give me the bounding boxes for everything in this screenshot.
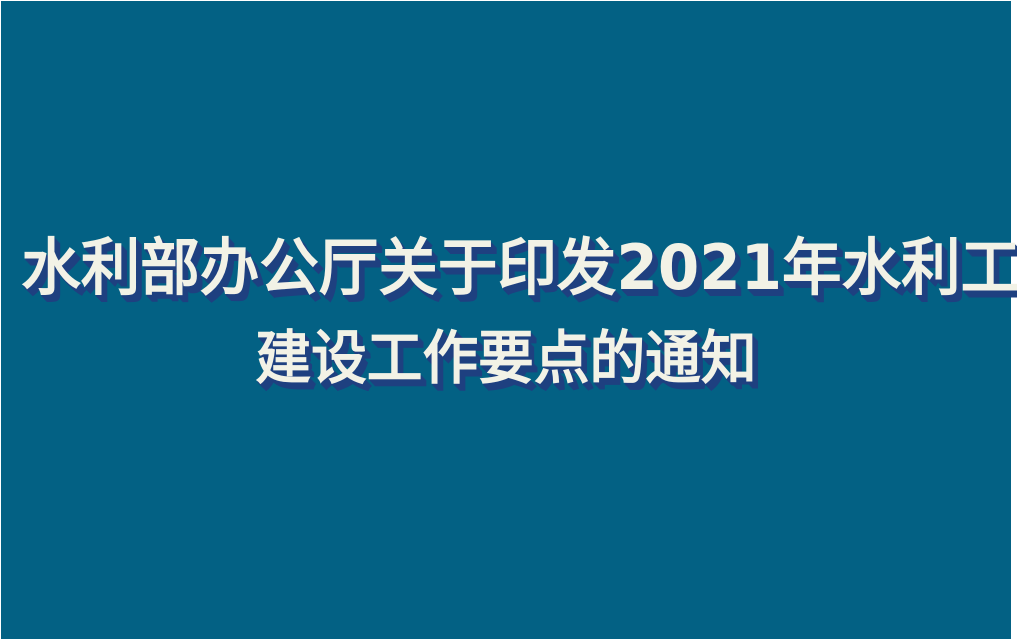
notice-title-card: 水利部办公厅关于印发2021年水利工程 建设工作要点的通知 bbox=[0, 0, 1017, 644]
teal-banner-panel: 水利部办公厅关于印发2021年水利工程 建设工作要点的通知 bbox=[1, 1, 1011, 639]
headline-line-2: 建设工作要点的通知 bbox=[21, 329, 991, 387]
headline-line-1: 水利部办公厅关于印发2021年水利工程 bbox=[21, 237, 991, 299]
headline-block: 水利部办公厅关于印发2021年水利工程 建设工作要点的通知 bbox=[1, 237, 1011, 387]
